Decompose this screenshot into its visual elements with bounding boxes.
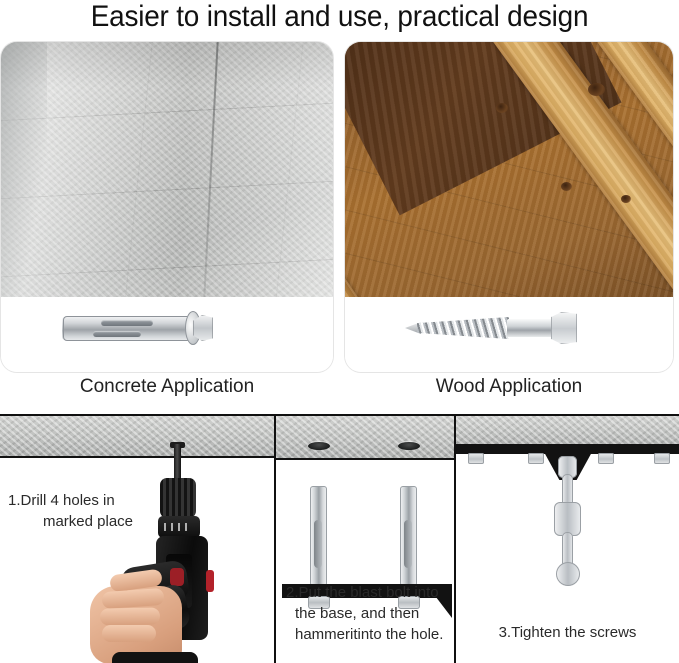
collar-markings — [164, 523, 192, 531]
step-3-caption: 3.Tighten the screws — [456, 622, 679, 643]
step-2-panel: 2.Put the blast bolt into the base, and … — [276, 414, 454, 663]
concrete-fastener-area — [1, 297, 333, 372]
drill-direction-switch — [206, 570, 214, 592]
card-captions: Concrete Application Wood Application — [0, 376, 679, 406]
concrete-seam — [203, 42, 218, 297]
step-2-caption: 2.Put the blast bolt into the base, and … — [286, 582, 454, 645]
step-3-panel: 3.Tighten the screws — [456, 414, 679, 663]
finger — [100, 607, 160, 625]
step-2-line-2: the base, and then — [286, 603, 454, 624]
concrete-caption: Concrete Application — [1, 376, 333, 398]
concrete-application-card — [1, 42, 333, 372]
swivel-ball-end — [556, 562, 580, 586]
bracket-bolt — [468, 453, 484, 464]
swivel-barrel — [554, 502, 581, 536]
anchor-slot — [101, 320, 153, 326]
drilled-hole — [308, 442, 330, 450]
anchor-slot — [93, 331, 141, 337]
screw-hex-head — [551, 312, 577, 344]
step-1-line-1: 1.Drill 4 holes in — [8, 490, 168, 511]
bracket-bolt — [654, 453, 670, 464]
wood-fastener-area — [345, 297, 673, 372]
page-title: Easier to install and use, practical des… — [24, 0, 655, 36]
drilled-hole — [398, 442, 420, 450]
ceiling-strip — [276, 416, 454, 460]
lag-screw — [405, 309, 577, 347]
anchor-bolt-vertical — [400, 486, 417, 586]
wood-texture — [345, 42, 673, 297]
step-1-line-2: marked place — [8, 511, 168, 532]
step-3-line-1: 3.Tighten the screws — [456, 622, 679, 643]
step-2-line-3: hammeritinto the hole. — [286, 624, 454, 645]
wood-knot — [588, 83, 605, 96]
sleeve-anchor-bolt — [63, 311, 213, 345]
sleeve-cuff — [112, 652, 198, 663]
wood-knot — [561, 182, 572, 191]
infographic-page: Easier to install and use, practical des… — [0, 0, 679, 663]
wood-beam — [345, 212, 472, 297]
concrete-ceiling-photo — [1, 42, 333, 297]
anchor-hex-nut — [193, 315, 213, 341]
concrete-texture — [1, 42, 333, 297]
step-1-caption: 1.Drill 4 holes in marked place — [8, 490, 168, 532]
installation-steps: 1.Drill 4 holes in marked place 2.Put th… — [0, 414, 679, 663]
screw-shank — [507, 319, 555, 337]
steps-top-divider — [0, 414, 679, 416]
anchor-slot — [314, 520, 322, 568]
drill-bit — [174, 444, 181, 480]
wood-application-card — [345, 42, 673, 372]
finger — [102, 625, 156, 642]
application-cards — [0, 42, 679, 374]
wood-ceiling-photo — [345, 42, 673, 297]
step-1-panel: 1.Drill 4 holes in marked place — [0, 414, 274, 663]
bracket-bolt — [528, 453, 544, 464]
wood-knot — [621, 195, 631, 203]
bracket-bolt — [598, 453, 614, 464]
screw-threads — [417, 317, 509, 339]
anchor-slot — [404, 520, 412, 568]
wood-caption: Wood Application — [345, 376, 673, 398]
hand — [84, 564, 200, 663]
step-2-line-1: 2.Put the blast bolt into — [286, 582, 454, 603]
anchor-bolt-vertical — [310, 486, 327, 586]
